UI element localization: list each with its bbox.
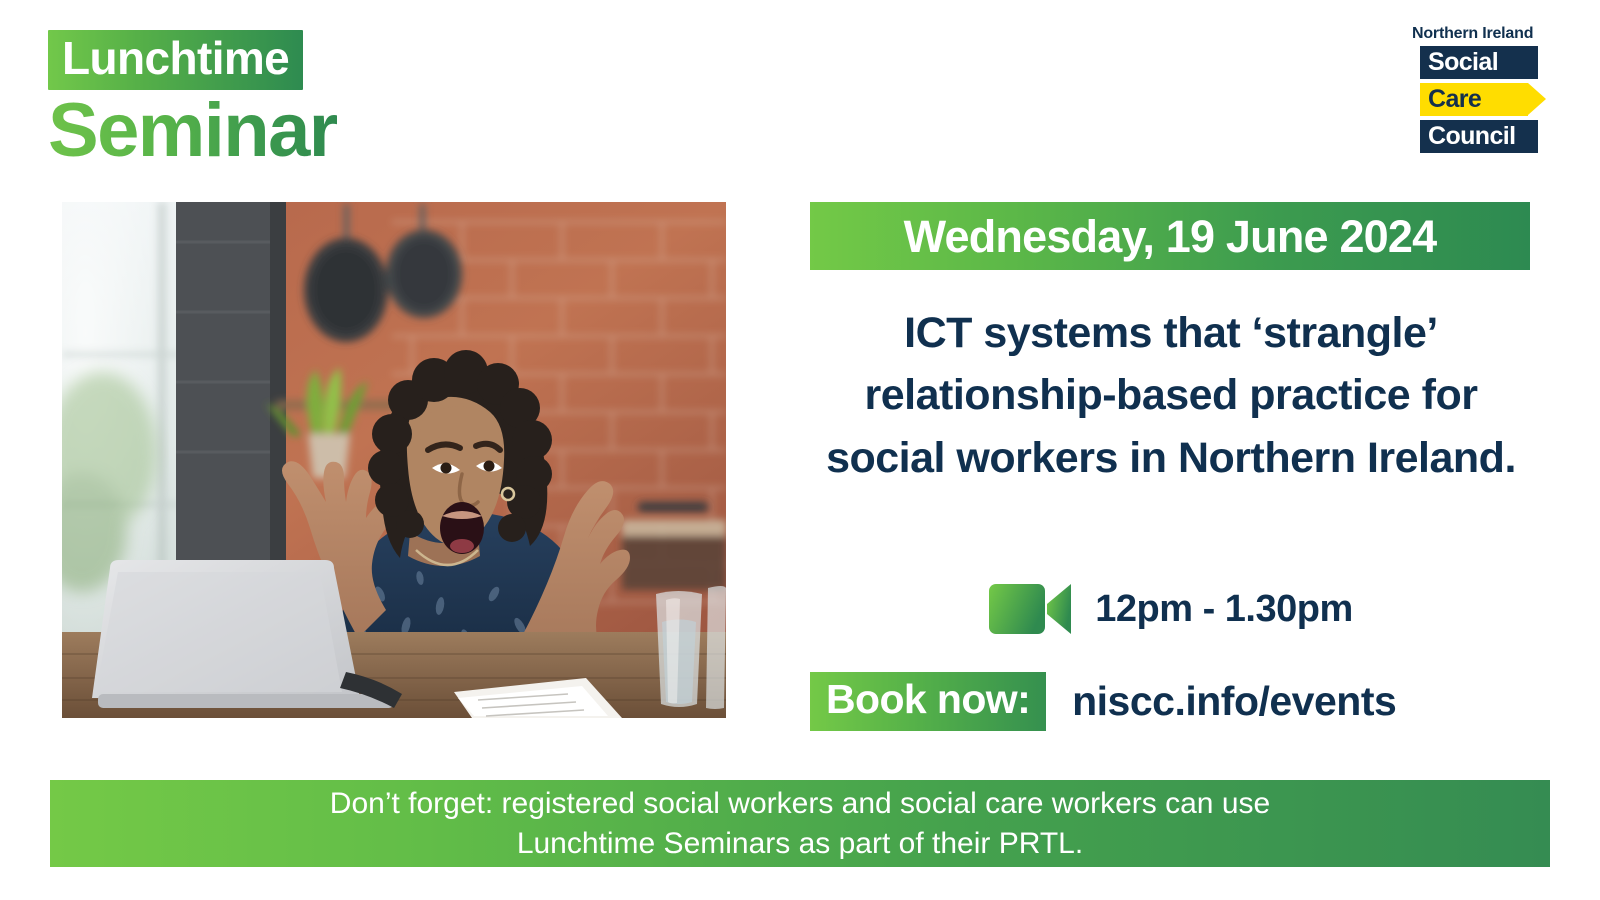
prtl-reminder-line-2: Lunchtime Seminars as part of their PRTL… bbox=[517, 824, 1083, 864]
booking-url-link[interactable]: niscc.info/events bbox=[1072, 681, 1396, 722]
logo-social-text: Social bbox=[1420, 50, 1498, 75]
niscc-logo: Northern Ireland Social Care Council bbox=[1410, 26, 1538, 157]
booking-row[interactable]: Book now: niscc.info/events bbox=[810, 672, 1540, 731]
logo-social-row: Social bbox=[1410, 46, 1538, 79]
seminar-photo bbox=[62, 202, 726, 718]
logo-northern-ireland-text: Northern Ireland bbox=[1412, 26, 1538, 42]
logo-council-bar: Council bbox=[1420, 120, 1538, 153]
book-now-box: Book now: bbox=[810, 672, 1046, 731]
event-date-banner: Wednesday, 19 June 2024 bbox=[810, 202, 1530, 270]
logo-care-bar: Care bbox=[1420, 83, 1528, 116]
prtl-reminder-line-1: Don’t forget: registered social workers … bbox=[330, 784, 1270, 824]
video-camera-icon bbox=[989, 582, 1073, 636]
poster-title-block: Lunchtime Seminar bbox=[48, 30, 337, 170]
logo-council-row: Council bbox=[1410, 120, 1538, 153]
seminar-poster: Lunchtime Seminar Northern Ireland Socia… bbox=[0, 0, 1600, 900]
logo-council-text: Council bbox=[1420, 124, 1515, 149]
book-now-label: Book now: bbox=[826, 676, 1030, 722]
event-time-text: 12pm - 1.30pm bbox=[1095, 590, 1353, 628]
logo-arrow-icon bbox=[1528, 83, 1546, 115]
prtl-reminder-banner: Don’t forget: registered social workers … bbox=[50, 780, 1550, 867]
event-date-text: Wednesday, 19 June 2024 bbox=[904, 214, 1437, 259]
seminar-label: Seminar bbox=[48, 92, 337, 170]
lunchtime-highlight-box: Lunchtime bbox=[48, 30, 303, 90]
photo-illustration bbox=[62, 202, 726, 718]
logo-care-row: Care bbox=[1410, 83, 1538, 116]
logo-care-text: Care bbox=[1420, 87, 1481, 112]
event-title: ICT systems that ‘strangle’ relationship… bbox=[806, 302, 1536, 489]
lunchtime-label: Lunchtime bbox=[62, 35, 289, 81]
logo-social-bar: Social bbox=[1420, 46, 1538, 79]
event-time-row: 12pm - 1.30pm bbox=[806, 582, 1536, 636]
